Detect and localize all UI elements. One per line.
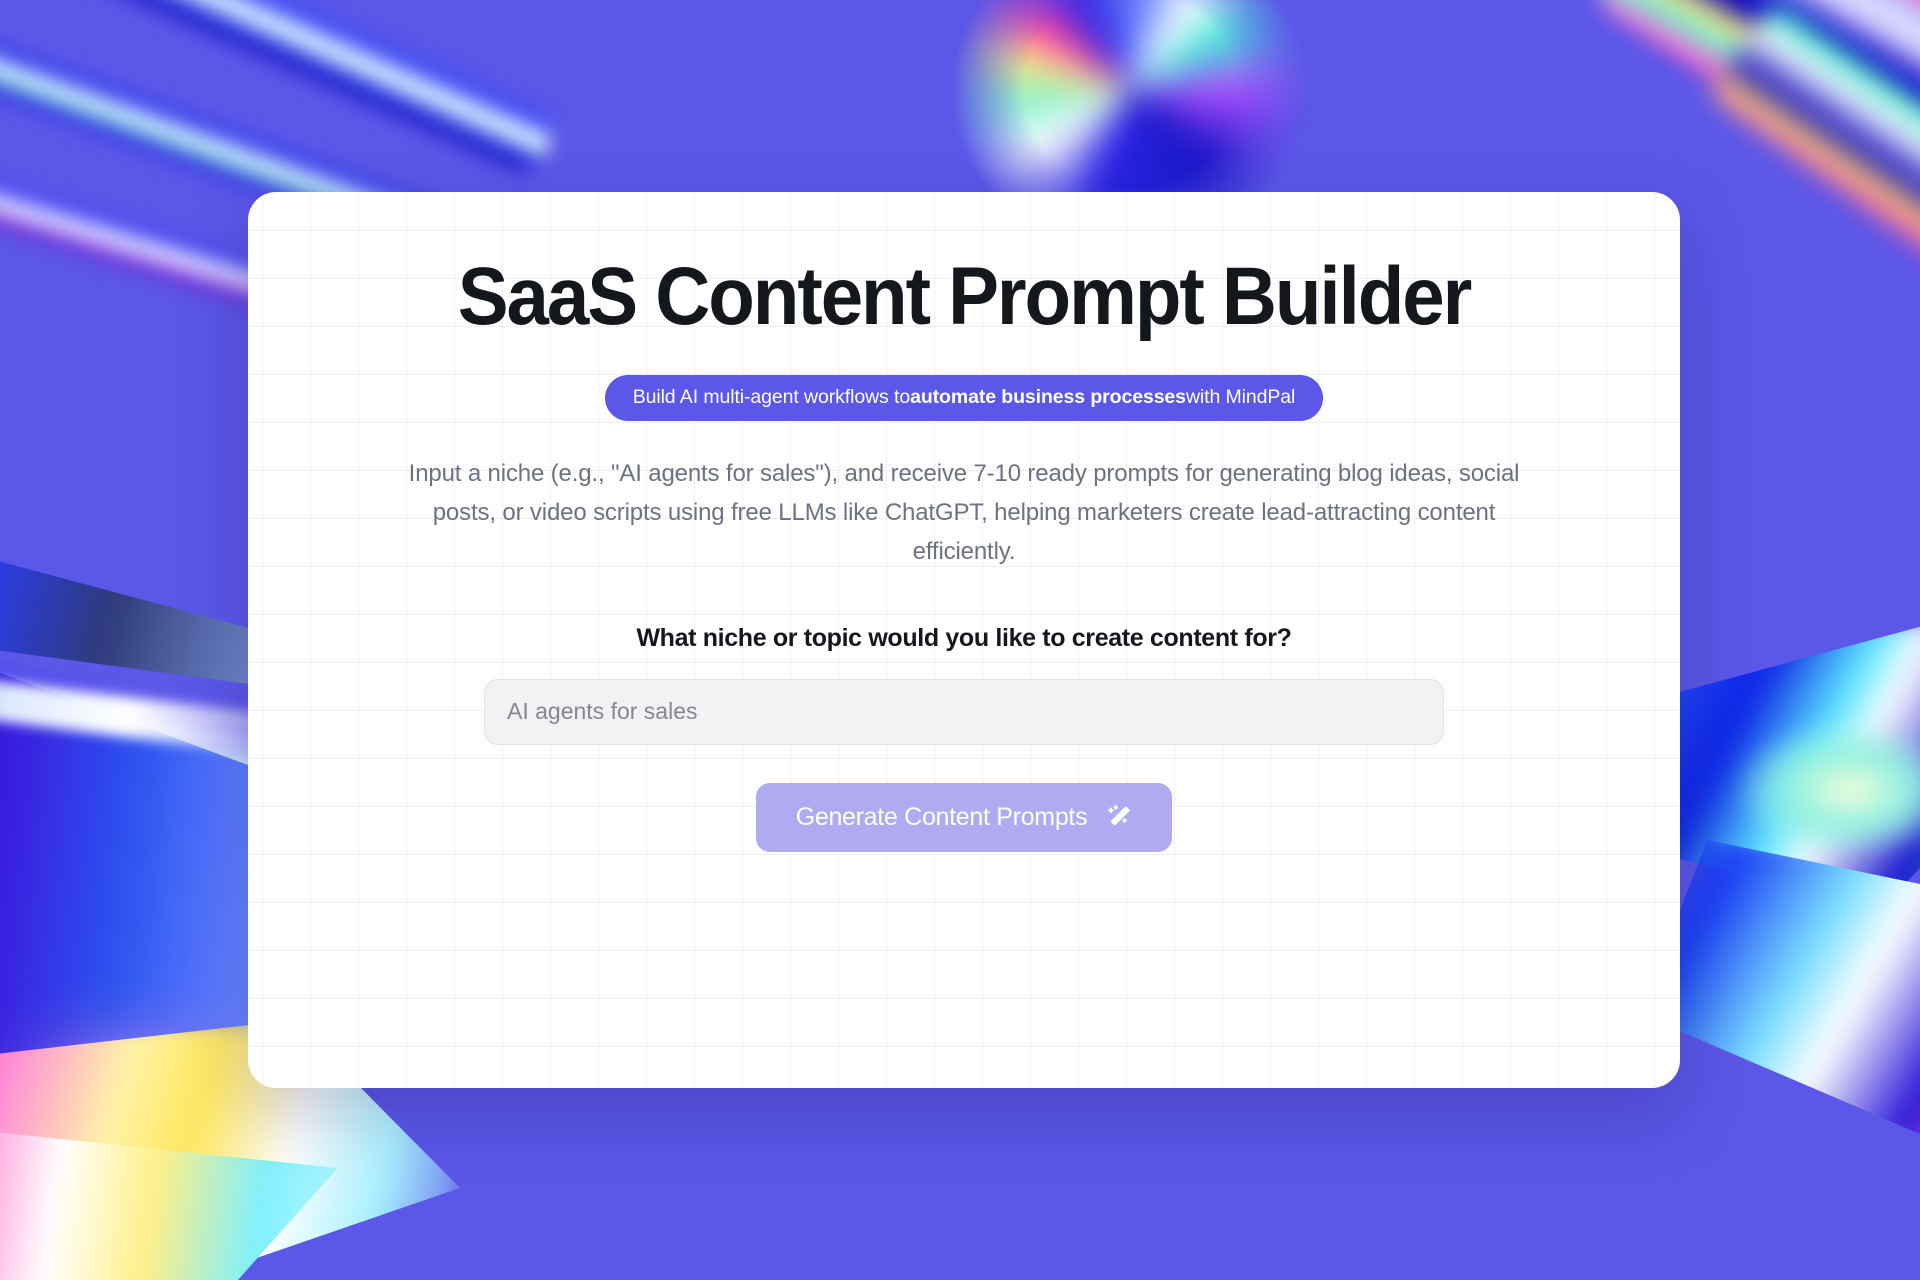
- badge-row: Build AI multi-agent workflows to automa…: [338, 375, 1590, 421]
- promo-badge-suffix: with MindPal: [1186, 387, 1295, 408]
- input-row: [338, 679, 1590, 745]
- button-row: Generate Content Prompts: [338, 783, 1590, 852]
- niche-input[interactable]: [484, 679, 1444, 745]
- question-label: What niche or topic would you like to cr…: [338, 624, 1590, 653]
- magic-wand-icon: [1105, 804, 1132, 831]
- glass-shard-right-2: [1640, 840, 1920, 1140]
- main-card: SaaS Content Prompt Builder Build AI mul…: [248, 192, 1680, 1088]
- generate-button-label: Generate Content Prompts: [796, 803, 1088, 832]
- page-title: SaaS Content Prompt Builder: [382, 254, 1546, 341]
- generate-content-prompts-button[interactable]: Generate Content Prompts: [756, 783, 1173, 852]
- description-text: Input a niche (e.g., "AI agents for sale…: [384, 455, 1544, 572]
- promo-badge[interactable]: Build AI multi-agent workflows to automa…: [605, 375, 1324, 421]
- promo-badge-highlight: automate business processes: [910, 387, 1186, 408]
- card-content: SaaS Content Prompt Builder Build AI mul…: [248, 192, 1680, 852]
- promo-badge-prefix: Build AI multi-agent workflows to: [633, 387, 910, 408]
